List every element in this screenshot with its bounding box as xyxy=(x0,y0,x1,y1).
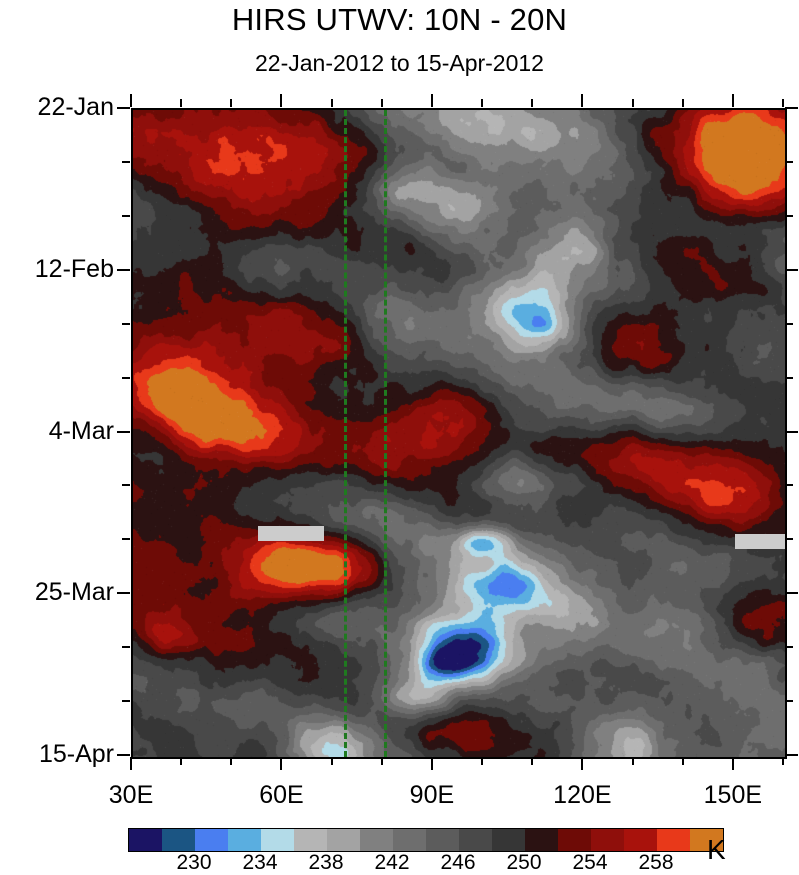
y-tick xyxy=(785,754,798,756)
y-tick xyxy=(122,484,130,486)
colorbar-cell[interactable] xyxy=(624,829,657,851)
y-tick xyxy=(122,646,130,648)
colorbar-tick-label: 230 xyxy=(176,851,211,875)
x-axis-label: 30E xyxy=(109,781,153,810)
colorbar-cell[interactable] xyxy=(591,829,624,851)
colorbar-cell[interactable] xyxy=(360,829,393,851)
x-axis-label: 60E xyxy=(259,781,303,810)
y-tick xyxy=(117,269,130,271)
colorbar-cell[interactable] xyxy=(261,829,294,851)
colorbar-tick-label: 258 xyxy=(638,851,673,875)
page-title: HIRS UTWV: 10N - 20N xyxy=(0,2,799,38)
colorbar-tick-label: 246 xyxy=(440,851,475,875)
y-tick xyxy=(785,484,793,486)
y-axis-label: 25-Mar xyxy=(35,580,114,605)
colorbar-tick-label: 250 xyxy=(506,851,541,875)
y-tick xyxy=(117,431,130,433)
y-tick xyxy=(785,538,793,540)
y-tick xyxy=(122,700,130,702)
x-axis-label: 120E xyxy=(553,781,611,810)
colorbar-cell[interactable] xyxy=(492,829,525,851)
colorbar[interactable] xyxy=(128,828,724,852)
x-tick xyxy=(431,757,433,770)
colorbar-cell[interactable] xyxy=(426,829,459,851)
x-tick xyxy=(732,94,734,107)
y-tick xyxy=(785,700,793,702)
x-tick xyxy=(180,757,182,765)
colorbar-cell[interactable] xyxy=(162,829,195,851)
x-tick xyxy=(782,99,784,107)
colorbar-units-label: K xyxy=(707,834,726,866)
y-tick xyxy=(785,592,798,594)
y-tick xyxy=(785,107,798,109)
x-tick xyxy=(381,757,383,765)
colorbar-cell[interactable] xyxy=(294,829,327,851)
y-tick xyxy=(785,269,798,271)
x-tick xyxy=(782,757,784,765)
y-tick xyxy=(785,161,793,163)
x-tick xyxy=(632,99,634,107)
x-tick xyxy=(531,757,533,765)
colorbar-cell[interactable] xyxy=(327,829,360,851)
x-tick xyxy=(130,94,132,107)
y-axis-label: 4-Mar xyxy=(49,419,114,444)
x-tick xyxy=(732,757,734,770)
x-tick xyxy=(581,757,583,770)
y-tick xyxy=(117,754,130,756)
x-tick xyxy=(531,99,533,107)
y-tick xyxy=(785,215,793,217)
y-tick xyxy=(785,646,793,648)
y-tick xyxy=(122,538,130,540)
hovmoller-plot-area[interactable] xyxy=(131,108,787,759)
x-tick xyxy=(180,99,182,107)
x-tick xyxy=(431,94,433,107)
y-tick xyxy=(122,215,130,217)
colorbar-tick-label: 242 xyxy=(374,851,409,875)
missing-data-block xyxy=(258,526,323,541)
x-tick xyxy=(230,99,232,107)
x-tick xyxy=(682,99,684,107)
missing-data-block xyxy=(735,534,785,549)
colorbar-cell[interactable] xyxy=(525,829,558,851)
x-tick xyxy=(280,94,282,107)
y-axis-label: 22-Jan xyxy=(38,95,114,120)
x-axis-label: 90E xyxy=(410,781,454,810)
x-tick xyxy=(331,99,333,107)
reference-line xyxy=(344,110,347,757)
colorbar-cell[interactable] xyxy=(228,829,261,851)
y-tick xyxy=(785,323,793,325)
x-axis-label: 150E xyxy=(704,781,762,810)
x-tick xyxy=(581,94,583,107)
colorbar-tick-label: 254 xyxy=(572,851,607,875)
x-tick xyxy=(481,99,483,107)
y-tick xyxy=(122,323,130,325)
colorbar-tick-label: 238 xyxy=(308,851,343,875)
y-axis-label: 12-Feb xyxy=(35,257,114,282)
x-tick xyxy=(230,757,232,765)
x-tick xyxy=(381,99,383,107)
contour-field xyxy=(133,110,785,757)
x-tick xyxy=(682,757,684,765)
colorbar-cell[interactable] xyxy=(558,829,591,851)
y-tick xyxy=(122,161,130,163)
reference-line xyxy=(384,110,387,757)
x-tick xyxy=(632,757,634,765)
x-tick xyxy=(331,757,333,765)
y-tick xyxy=(785,377,793,379)
colorbar-cell[interactable] xyxy=(393,829,426,851)
plot-subtitle: 22-Jan-2012 to 15-Apr-2012 xyxy=(0,50,799,77)
y-tick xyxy=(785,431,798,433)
colorbar-cell[interactable] xyxy=(195,829,228,851)
y-tick xyxy=(117,107,130,109)
y-tick xyxy=(117,592,130,594)
colorbar-tick-label: 234 xyxy=(242,851,277,875)
x-tick xyxy=(481,757,483,765)
x-tick xyxy=(130,757,132,770)
y-axis-label: 15-Apr xyxy=(39,742,114,767)
colorbar-cell[interactable] xyxy=(657,829,690,851)
x-tick xyxy=(280,757,282,770)
colorbar-cell[interactable] xyxy=(129,829,162,851)
colorbar-cell[interactable] xyxy=(459,829,492,851)
y-tick xyxy=(122,377,130,379)
